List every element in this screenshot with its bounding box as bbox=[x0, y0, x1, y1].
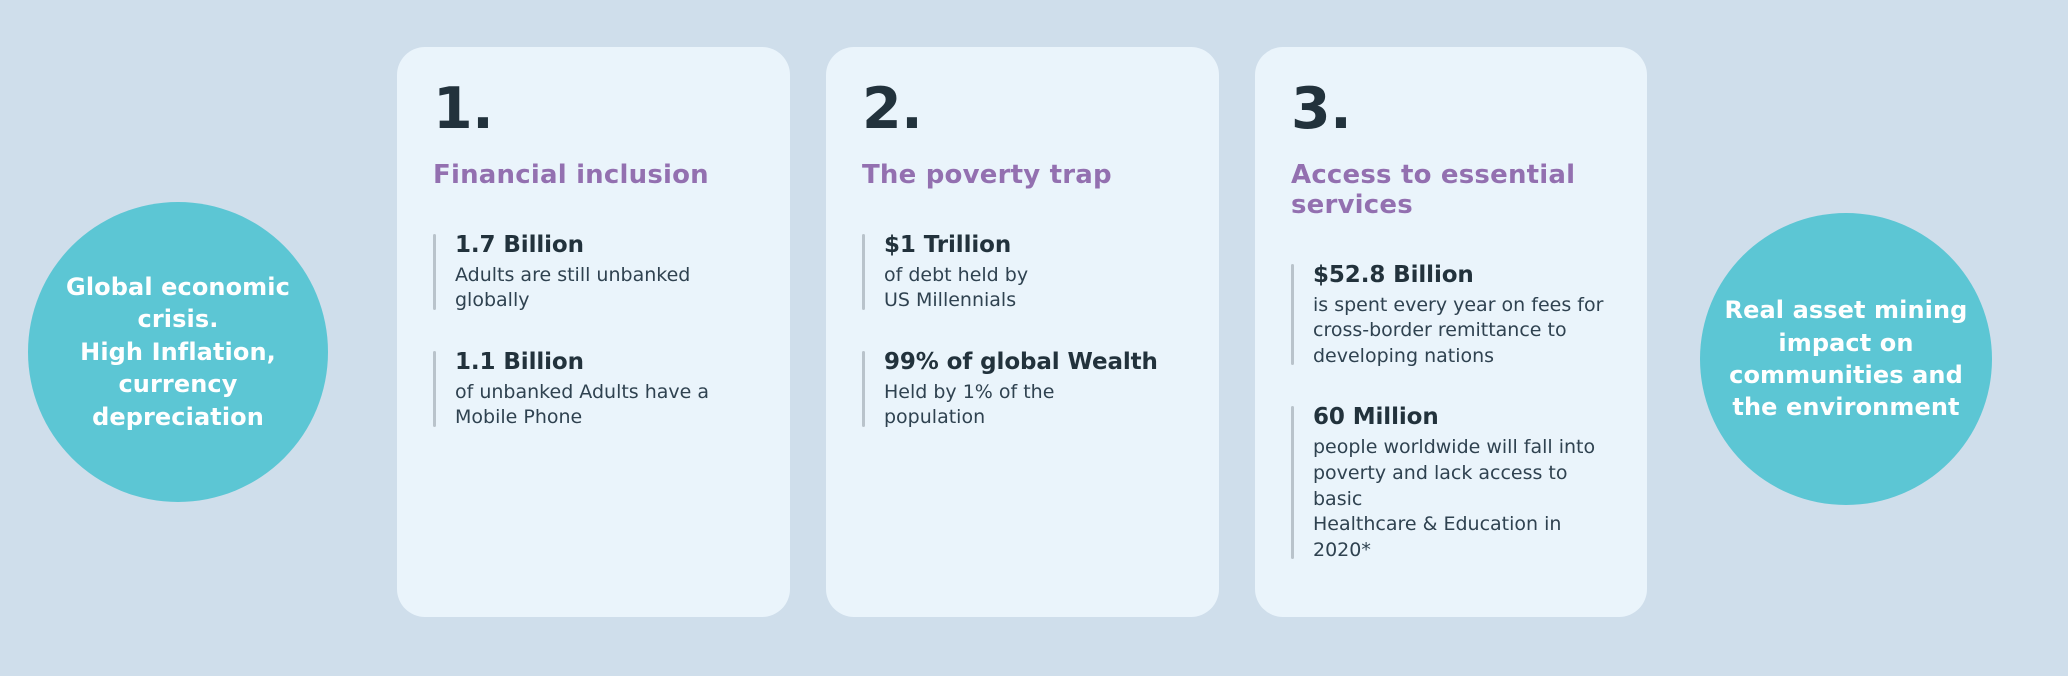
circle-right-text: Real asset mining impact on communities … bbox=[1700, 294, 1992, 424]
cards-container: 1. Financial inclusion 1.7 Billion Adult… bbox=[397, 47, 1647, 617]
stat-item: 60 Million people worldwide will fall in… bbox=[1291, 403, 1611, 563]
infographic-canvas: Global economic crisis. High Inflation, … bbox=[0, 0, 2068, 676]
card-access-essential-services: 3. Access to essential services $52.8 Bi… bbox=[1255, 47, 1647, 617]
card-financial-inclusion: 1. Financial inclusion 1.7 Billion Adult… bbox=[397, 47, 790, 617]
stat-item: $52.8 Billion is spent every year on fee… bbox=[1291, 261, 1611, 370]
card-1-stats: 1.7 Billion Adults are still unbanked gl… bbox=[433, 231, 754, 431]
card-2-stats: $1 Trillion of debt held by US Millennia… bbox=[862, 231, 1183, 431]
circle-left-text: Global economic crisis. High Inflation, … bbox=[28, 271, 328, 433]
stat-item: 99% of global Wealth Held by 1% of the p… bbox=[862, 348, 1183, 431]
stat-description: of debt held by US Millennials bbox=[884, 263, 1183, 314]
card-1-title: Financial inclusion bbox=[433, 160, 754, 191]
stat-item: 1.1 Billion of unbanked Adults have a Mo… bbox=[433, 348, 754, 431]
stat-value: $52.8 Billion bbox=[1313, 261, 1611, 290]
card-1-number: 1. bbox=[433, 81, 754, 138]
stat-value: 1.1 Billion bbox=[455, 348, 754, 377]
stat-description: of unbanked Adults have a Mobile Phone bbox=[455, 380, 754, 431]
stat-description: Adults are still unbanked globally bbox=[455, 263, 754, 314]
stat-value: $1 Trillion bbox=[884, 231, 1183, 260]
card-3-title: Access to essential services bbox=[1291, 160, 1611, 221]
stat-value: 1.7 Billion bbox=[455, 231, 754, 260]
circle-real-asset-mining-impact: Real asset mining impact on communities … bbox=[1700, 213, 1992, 505]
circle-global-economic-crisis: Global economic crisis. High Inflation, … bbox=[28, 202, 328, 502]
stat-value: 99% of global Wealth bbox=[884, 348, 1183, 377]
stat-item: 1.7 Billion Adults are still unbanked gl… bbox=[433, 231, 754, 314]
stat-description: people worldwide will fall into poverty … bbox=[1313, 435, 1611, 563]
stat-description: Held by 1% of the population bbox=[884, 380, 1183, 431]
stat-description: is spent every year on fees for cross-bo… bbox=[1313, 293, 1611, 370]
card-poverty-trap: 2. The poverty trap $1 Trillion of debt … bbox=[826, 47, 1219, 617]
card-3-stats: $52.8 Billion is spent every year on fee… bbox=[1291, 261, 1611, 564]
card-3-number: 3. bbox=[1291, 81, 1611, 138]
stat-value: 60 Million bbox=[1313, 403, 1611, 432]
stat-item: $1 Trillion of debt held by US Millennia… bbox=[862, 231, 1183, 314]
card-2-title: The poverty trap bbox=[862, 160, 1183, 191]
card-2-number: 2. bbox=[862, 81, 1183, 138]
